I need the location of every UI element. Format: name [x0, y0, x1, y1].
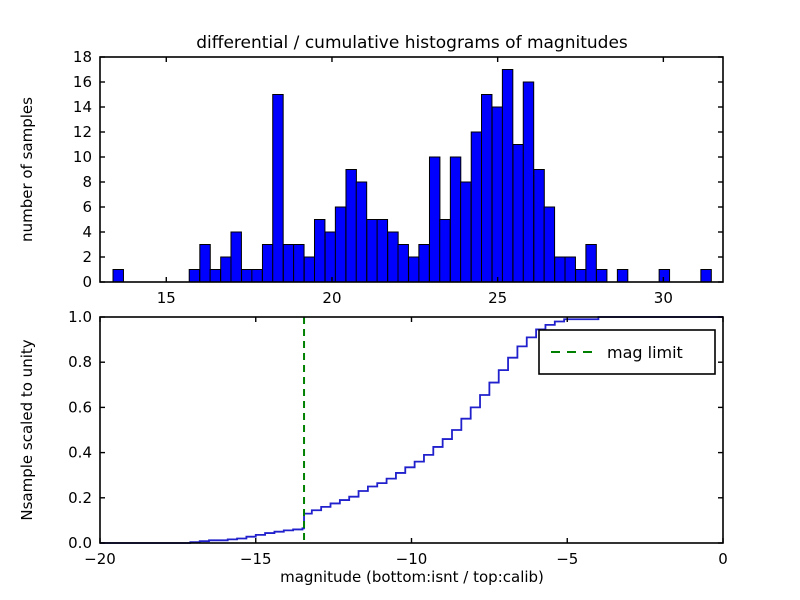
top-y-tick-label: 14	[73, 98, 92, 116]
bottom-y-tick-label: 0.6	[68, 398, 92, 416]
histogram-bar	[565, 257, 575, 282]
histogram-bar	[492, 107, 502, 282]
histogram-bar	[367, 220, 377, 283]
histogram-bar	[513, 145, 523, 283]
top-y-tick-label: 2	[82, 248, 92, 266]
bottom-y-tick-label: 0.8	[68, 353, 92, 371]
histogram-bar	[544, 207, 554, 282]
matplotlib-figure: differential / cumulative histograms of …	[0, 0, 800, 600]
histogram-bar	[450, 157, 460, 282]
histogram-bar	[221, 257, 231, 282]
top-y-tick-label: 12	[73, 123, 92, 141]
histogram-bar	[189, 270, 199, 283]
histogram-bar	[471, 132, 481, 282]
top-y-axis-label: number of samples	[18, 97, 36, 242]
top-y-tick-label: 4	[82, 223, 92, 241]
legend-label-mag-limit: mag limit	[607, 343, 683, 362]
bottom-y-tick-label: 0.2	[68, 489, 92, 507]
histogram-bar	[534, 170, 544, 283]
figure-canvas: differential / cumulative histograms of …	[0, 0, 800, 600]
histogram-bar	[555, 257, 565, 282]
histogram-bar	[294, 245, 304, 283]
x-axis-label: magnitude (bottom:isnt / top:calib)	[280, 568, 544, 586]
histogram-bar	[304, 257, 314, 282]
histogram-bar	[377, 220, 387, 283]
legend[interactable]: mag limit	[539, 330, 715, 374]
top-y-tick-label: 10	[73, 148, 92, 166]
histogram-bar	[356, 182, 366, 282]
histogram-bar	[398, 245, 408, 283]
histogram-bar	[113, 270, 123, 283]
histogram-bar	[314, 220, 324, 283]
histogram-bar	[262, 245, 272, 283]
histogram-bar	[210, 270, 220, 283]
chart-title: differential / cumulative histograms of …	[196, 33, 628, 53]
histogram-bar	[502, 70, 512, 283]
bottom-y-tick-label: 0.4	[68, 444, 92, 462]
histogram-bar	[325, 232, 335, 282]
histogram-bar	[242, 270, 252, 283]
top-y-tick-label: 16	[73, 73, 92, 91]
figure-background	[0, 0, 800, 600]
histogram-bar	[231, 232, 241, 282]
top-y-tick-label: 6	[82, 198, 92, 216]
bottom-y-tick-label: 1.0	[68, 308, 92, 326]
histogram-bar	[576, 270, 586, 283]
top-x-tick-label: 20	[322, 289, 341, 307]
histogram-bar	[701, 270, 711, 283]
bottom-x-tick-label: −10	[396, 550, 428, 568]
top-y-tick-label: 18	[73, 48, 92, 66]
histogram-bar	[617, 270, 627, 283]
histogram-bar	[409, 257, 419, 282]
bottom-x-tick-label: −15	[240, 550, 272, 568]
histogram-bar	[429, 157, 439, 282]
histogram-bar	[200, 245, 210, 283]
histogram-bar	[659, 270, 669, 283]
bottom-x-tick-label: −20	[84, 550, 116, 568]
histogram-bar	[335, 207, 345, 282]
top-x-tick-label: 15	[157, 289, 176, 307]
histogram-bar	[440, 220, 450, 283]
histogram-bar	[273, 95, 283, 283]
histogram-bar	[461, 182, 471, 282]
histogram-bar	[346, 170, 356, 283]
top-y-tick-label: 8	[82, 173, 92, 191]
histogram-bar	[586, 245, 596, 283]
histogram-bar	[596, 270, 606, 283]
histogram-bar	[252, 270, 262, 283]
histogram-bar	[419, 245, 429, 283]
top-x-tick-label: 25	[488, 289, 507, 307]
bottom-y-axis-label: Nsample scaled to unity	[18, 339, 36, 520]
top-y-tick-label: 0	[82, 273, 92, 291]
top-x-tick-label: 30	[654, 289, 673, 307]
histogram-bar	[283, 245, 293, 283]
histogram-bar	[523, 82, 533, 282]
bottom-x-tick-label: 0	[718, 550, 728, 568]
bottom-x-tick-label: −5	[556, 550, 578, 568]
histogram-bar	[388, 232, 398, 282]
histogram-bar	[482, 95, 492, 283]
